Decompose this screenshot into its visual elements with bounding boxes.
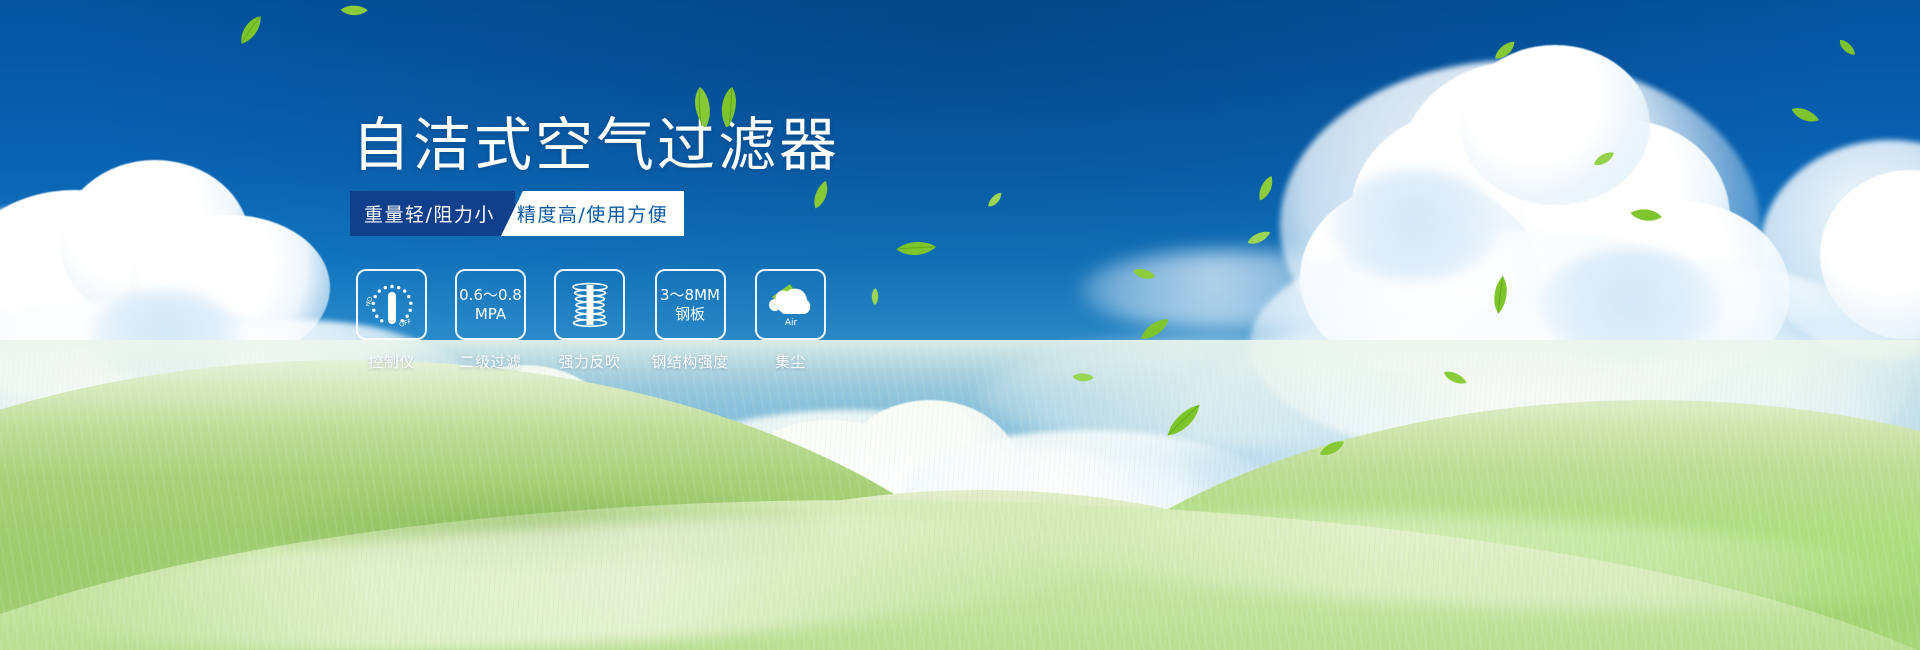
feature-box: NO OFF xyxy=(356,269,427,340)
feature-item-controller[interactable]: NO OFF 控制仪 xyxy=(356,269,427,372)
tagline-badge: 重量轻/阻力小 精度高/使用方便 xyxy=(350,191,684,236)
feature-text-line2: MPA xyxy=(475,305,506,324)
feature-text-line2: 钢板 xyxy=(675,305,705,324)
feature-box xyxy=(554,269,625,340)
svg-text:NO: NO xyxy=(366,295,375,307)
feature-box: 0.6～0.8 MPA xyxy=(455,269,526,340)
feature-item-dust[interactable]: Air 集尘 xyxy=(755,269,826,372)
air-cloud-icon: Air xyxy=(764,280,818,330)
badge-right-label: 精度高/使用方便 xyxy=(501,191,684,236)
feature-box: Air xyxy=(755,269,826,340)
feature-box: 3～8MM 钢板 xyxy=(655,269,726,340)
svg-text:Air: Air xyxy=(784,318,797,328)
feature-text-line1: 3～8MM xyxy=(660,286,720,305)
banner-content: 自洁式空气过滤器 重量轻/阻力小 精度高/使用方便 xyxy=(0,0,1920,650)
feature-item-steel[interactable]: 3～8MM 钢板 钢结构强度 xyxy=(653,269,727,372)
feature-list: NO OFF 控制仪 0.6～0.8 MPA 二级过滤 xyxy=(356,269,826,372)
gauge-dial-icon: NO OFF xyxy=(366,280,418,330)
feature-item-backblow[interactable]: 强力反吹 xyxy=(554,269,625,372)
title-block: 自洁式空气过滤器 xyxy=(352,112,840,178)
filter-cartridge-icon xyxy=(565,280,615,330)
feature-text-line1: 0.6～0.8 xyxy=(459,286,522,305)
svg-text:OFF: OFF xyxy=(398,317,413,329)
page-title: 自洁式空气过滤器 xyxy=(352,112,840,178)
banner-stage: 自洁式空气过滤器 重量轻/阻力小 精度高/使用方便 xyxy=(0,0,1920,650)
title-leaf-pair-icon xyxy=(686,86,746,126)
feature-caption: 集尘 xyxy=(775,351,806,372)
feature-caption: 钢结构强度 xyxy=(651,351,729,372)
badge-left-label: 重量轻/阻力小 xyxy=(350,191,515,236)
feature-item-pressure[interactable]: 0.6～0.8 MPA 二级过滤 xyxy=(455,269,526,372)
feature-caption: 强力反吹 xyxy=(558,351,620,372)
feature-caption: 控制仪 xyxy=(368,351,415,372)
feature-caption: 二级过滤 xyxy=(459,351,521,372)
